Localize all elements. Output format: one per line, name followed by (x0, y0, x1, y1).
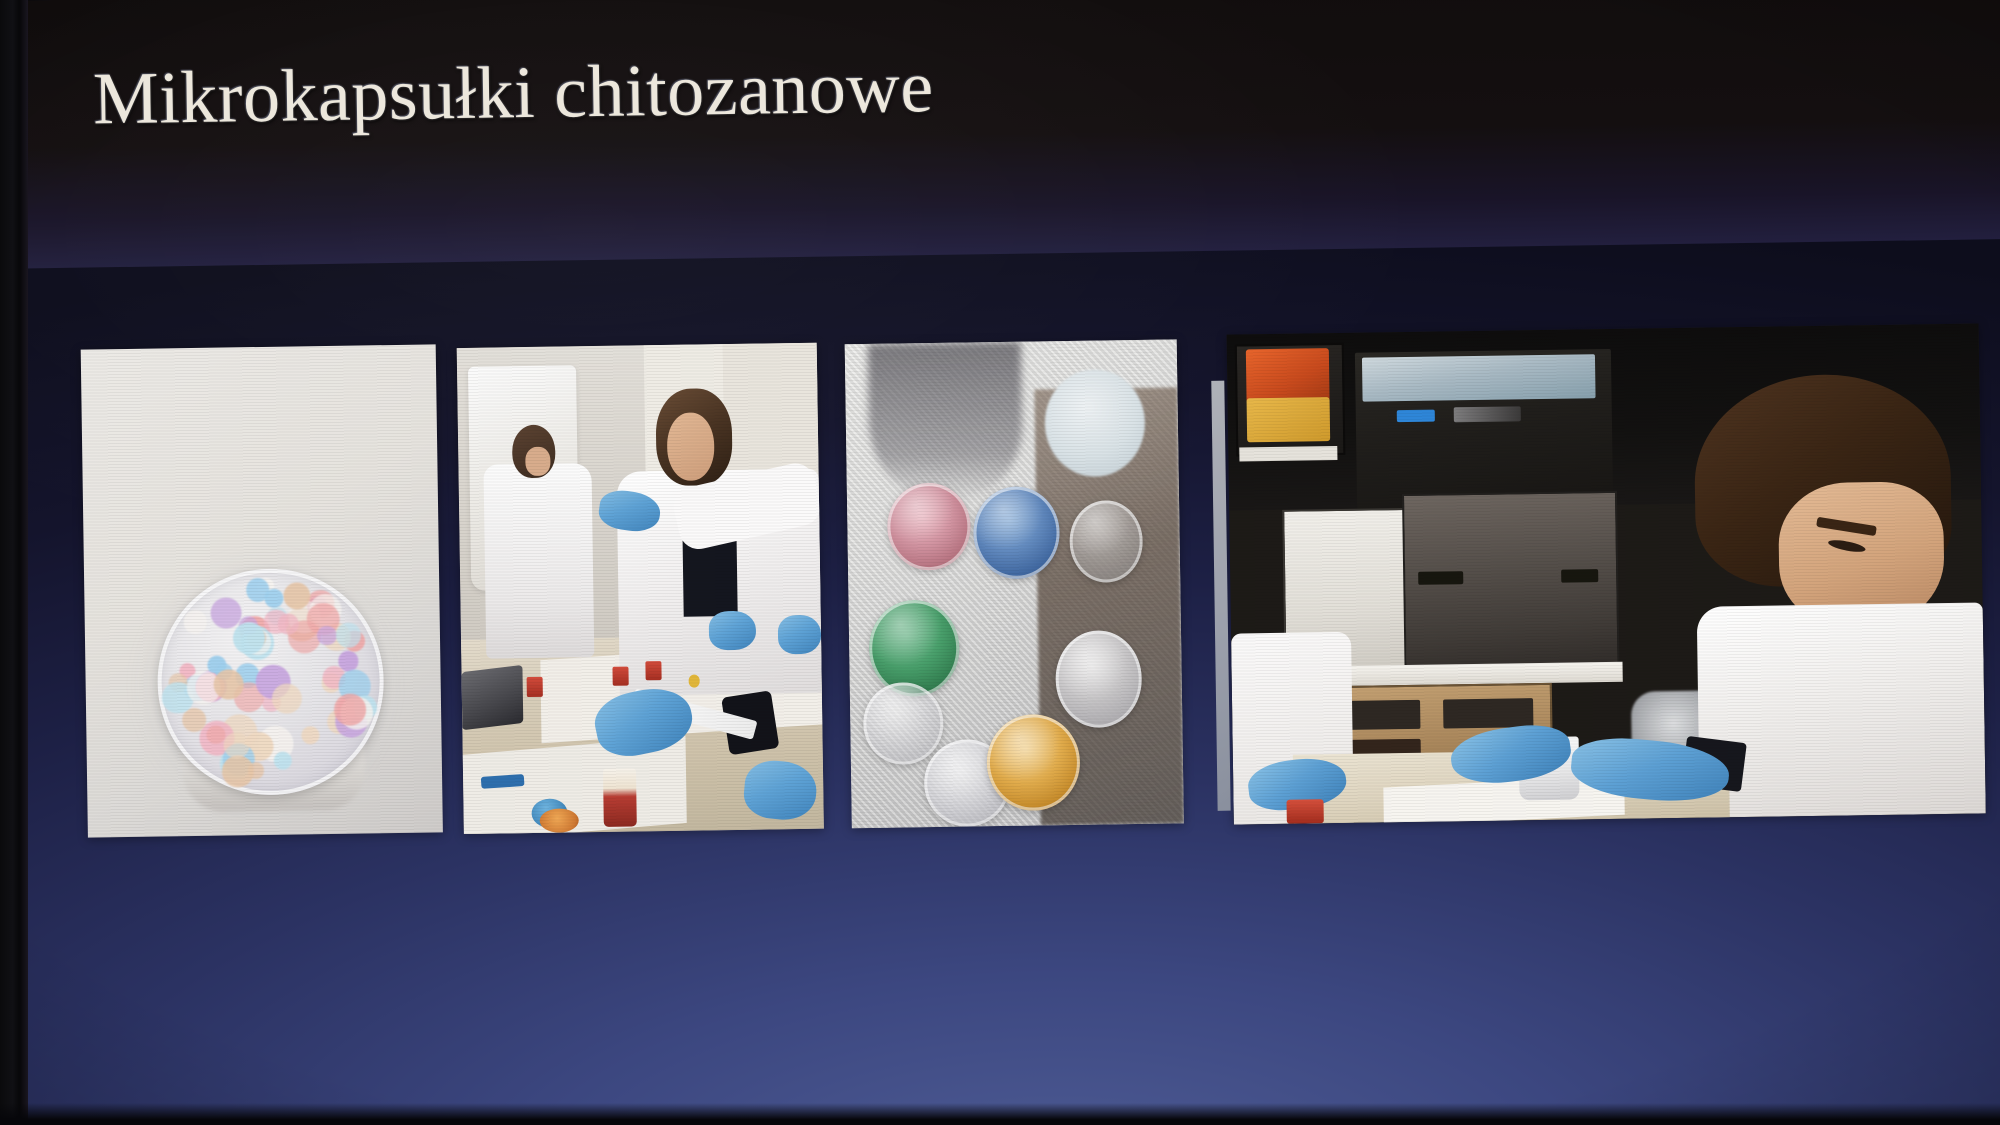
image-1-caption: Petri dish filled with multicoloured chi… (81, 350, 82, 351)
cabinet-handle (1561, 569, 1599, 582)
cabinet-drawer (1443, 698, 1534, 729)
photographed-screen: Mikrokapsułki chitozanowe Petri dish fil… (0, 0, 2000, 1125)
yellow-supplies (1246, 397, 1329, 442)
microcapsule-bead (213, 669, 243, 699)
blue-marker-pen (481, 774, 525, 789)
microcapsule-bead (334, 694, 366, 726)
presentation-slide: Mikrokapsułki chitozanowe Petri dish fil… (0, 0, 2000, 1125)
microcapsule-bead (222, 755, 254, 787)
microcapsule-bead (336, 623, 361, 648)
red-cap-vial (613, 666, 629, 686)
blue-glove-icon (778, 615, 822, 655)
microcapsule-bead (272, 683, 303, 714)
microcapsule-bead (233, 622, 265, 654)
foreground-student-face (666, 412, 714, 481)
slide-image-coloured-petri-dishes-on-towel: Several petri dishes holding pink, blue,… (845, 339, 1184, 828)
blue-glove-icon (709, 611, 756, 651)
microcapsule-bead (211, 597, 243, 629)
orange-supplies (1246, 348, 1330, 403)
shelf-edge (1240, 446, 1338, 462)
slide-image-student-handling-sample-tube: Student in a lab coat with blue gloves h… (1227, 323, 1986, 824)
monitor-bezel-left (0, 0, 28, 1125)
microcapsule-bead (317, 626, 337, 646)
microcapsule-bead (301, 726, 320, 745)
slide-image-students-pipetting-lab-bench: Two students in white lab coats and blue… (457, 343, 824, 834)
red-cap-vial (526, 677, 542, 697)
monitor-bezel-bottom (0, 1103, 2000, 1125)
freezer-top-tray (1362, 354, 1596, 402)
microcapsule-bead (264, 588, 284, 608)
cabinet-handle (1418, 571, 1463, 584)
background-student-coat (484, 463, 595, 659)
microscope (462, 665, 524, 731)
petri-dish-green-beads (868, 599, 959, 697)
slide-image-petri-dish-microcapsules-closeup: Petri dish filled with multicoloured chi… (81, 344, 443, 837)
status-led-icon (1397, 410, 1435, 422)
microcapsule-bead (223, 732, 249, 758)
microcapsule-bead (183, 610, 207, 634)
yellow-sample (688, 675, 699, 687)
equipment-label (1453, 406, 1521, 422)
background-student-face (525, 446, 551, 476)
microcapsule-bead (273, 751, 292, 770)
slide-title: Mikrokapsułki chitozanowe (92, 49, 934, 139)
red-cap-vial (645, 661, 661, 681)
red-cap-vial (1286, 799, 1324, 824)
sample-vial (603, 768, 636, 827)
white-lid (1044, 369, 1145, 477)
